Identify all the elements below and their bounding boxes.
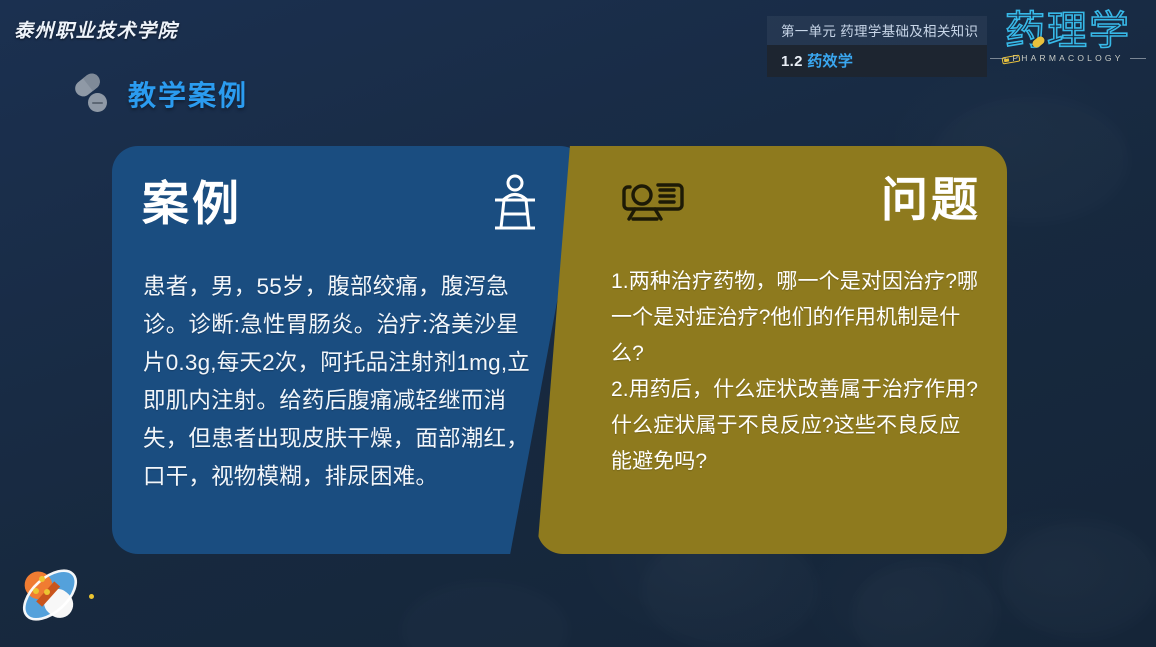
question-item: 2.用药后，什么症状改善属于治疗作用?什么症状属于不良反应?这些不良反应能避免吗… <box>611 372 981 480</box>
slide-canvas: 泰州职业技术学院 第一单元 药理学基础及相关知识 1.2 药效学 药理学 PHA… <box>0 0 1156 647</box>
question-card-header: 问题 <box>622 176 981 223</box>
background-blob <box>1000 520 1156 640</box>
decoration-dot <box>89 594 94 599</box>
lesson-number: 1.2 <box>781 53 803 70</box>
question-card-title: 问题 <box>881 176 981 223</box>
projector-icon <box>622 177 684 223</box>
question-card-body: 1.两种治疗药物，哪一个是对因治疗?哪一个是对症治疗?他们的作用机制是什么? 2… <box>611 264 981 480</box>
background-blob <box>400 580 570 647</box>
lesson-label: 1.2 药效学 <box>767 45 987 77</box>
lesson-title: 药效学 <box>807 53 853 70</box>
case-card-body: 患者，男，55岁，腹部绞痛，腹泻急诊。诊断:急性胃肠炎。治疗:洛美沙星片0.3g… <box>143 268 534 496</box>
podium-icon <box>492 174 538 232</box>
pharmacology-brand-logo: 药理学 PHARMACOLOGY <box>992 8 1144 74</box>
capsule-orbit-icon <box>6 555 94 635</box>
question-card[interactable]: 问题 1.两种治疗药物，哪一个是对因治疗?哪一个是对症治疗?他们的作用机制是什么… <box>537 146 1007 554</box>
case-card-title: 案例 <box>142 180 242 227</box>
tablet-shape <box>88 93 107 112</box>
background-blob <box>850 560 1000 647</box>
unit-breadcrumb: 第一单元 药理学基础及相关知识 1.2 药效学 <box>767 16 987 77</box>
section-title-row: 教学案例 <box>72 74 248 114</box>
brand-tablet-icon <box>1002 54 1021 64</box>
brand-chinese-text: 药理学 <box>992 8 1144 54</box>
case-card[interactable]: 案例 患者，男，55岁，腹部绞痛，腹泻急诊。诊断:急性胃肠炎。治疗:洛美沙星片0… <box>112 146 586 554</box>
school-name-logo: 泰州职业技术学院 <box>14 16 178 43</box>
pill-capsule-icon <box>72 74 112 114</box>
case-card-header: 案例 <box>142 174 538 232</box>
section-title: 教学案例 <box>128 74 248 114</box>
question-item: 1.两种治疗药物，哪一个是对因治疗?哪一个是对症治疗?他们的作用机制是什么? <box>611 264 981 372</box>
unit-label: 第一单元 药理学基础及相关知识 <box>767 16 987 45</box>
